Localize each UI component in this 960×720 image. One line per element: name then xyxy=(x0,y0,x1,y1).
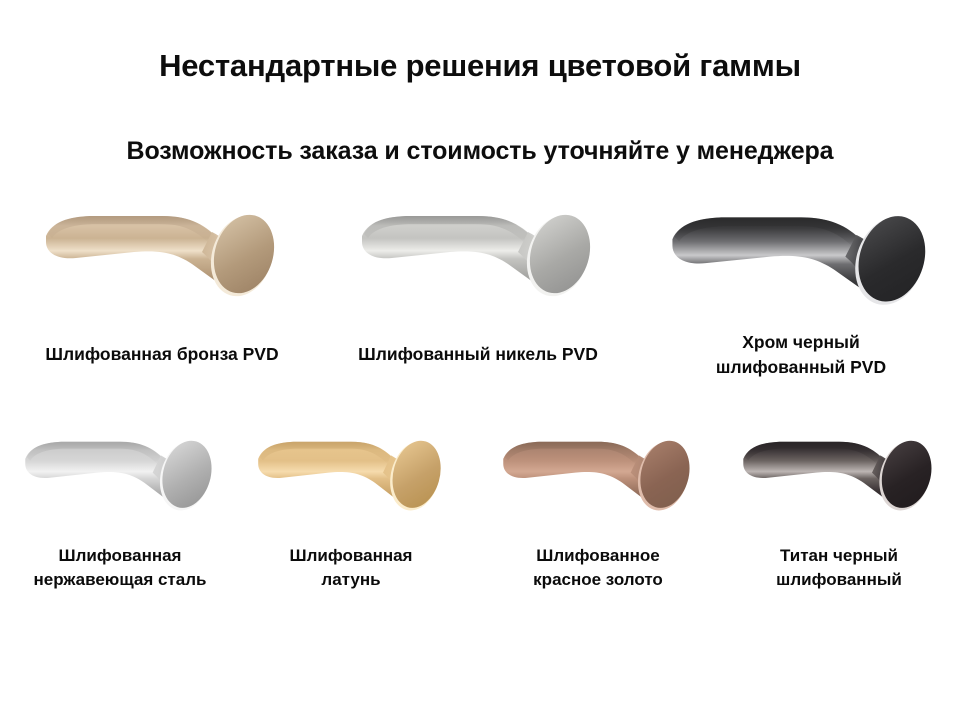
handle-image xyxy=(42,200,282,312)
finish-caption: Титан черный шлифованный xyxy=(740,544,938,592)
handle-image xyxy=(22,428,218,524)
page-subtitle: Возможность заказа и стоимость уточняйте… xyxy=(0,137,960,166)
finish-caption: Шлифованная бронза PVD xyxy=(42,342,282,367)
finish-caption: Шлифованное красное золото xyxy=(500,544,696,592)
handle-image xyxy=(668,200,934,322)
finish-card-0-0[interactable]: Шлифованная бронза PVD xyxy=(42,200,282,312)
finish-caption: Хром черный шлифованный PVD xyxy=(668,330,934,380)
finish-card-0-2[interactable]: Хром черный шлифованный PVD xyxy=(668,200,934,322)
finish-caption: Шлифованная нержавеющая сталь xyxy=(22,544,218,592)
finish-row-2: Шлифованная нержавеющая сталь xyxy=(0,428,960,613)
handle-image xyxy=(358,200,598,312)
handle-image xyxy=(740,428,938,524)
finish-card-1-3[interactable]: Титан черный шлифованный xyxy=(740,428,938,524)
finish-row-1: Шлифованная бронза PVD xyxy=(0,200,960,405)
finish-caption: Шлифованная латунь xyxy=(255,544,447,592)
finish-card-1-1[interactable]: Шлифованная латунь xyxy=(255,428,447,524)
handle-image xyxy=(500,428,696,524)
finish-card-1-0[interactable]: Шлифованная нержавеющая сталь xyxy=(22,428,218,524)
slide-root: Нестандартные решения цветовой гаммы Воз… xyxy=(0,0,960,720)
finish-caption: Шлифованный никель PVD xyxy=(358,342,598,367)
page-title: Нестандартные решения цветовой гаммы xyxy=(0,48,960,84)
finish-card-1-2[interactable]: Шлифованное красное золото xyxy=(500,428,696,524)
finish-card-0-1[interactable]: Шлифованный никель PVD xyxy=(358,200,598,312)
handle-image xyxy=(255,428,447,524)
